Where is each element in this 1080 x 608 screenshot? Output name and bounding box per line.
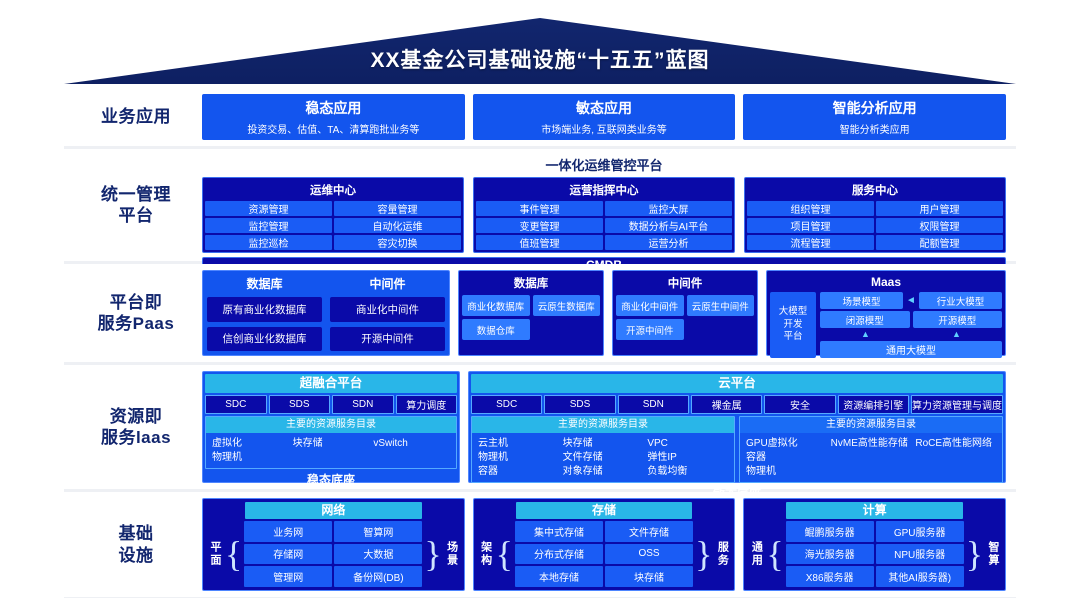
- maas-group: Maas 大模型 开发 平台 场景模型 ◄: [766, 270, 1006, 356]
- service-item: 弹性IP: [647, 451, 728, 464]
- paas-chip-grid: 商业化中间件 云原生中间件 开源中间件: [616, 295, 754, 340]
- maas-platform-label-line1: 大模型: [779, 306, 808, 319]
- infra-cell[interactable]: 其他AI服务器): [876, 566, 964, 587]
- service-item: vSwitch: [373, 437, 450, 450]
- service-catalog-column: VPC 弹性IP 负载均衡: [647, 437, 728, 478]
- infra-cell[interactable]: 管理网: [244, 566, 332, 587]
- paas-traditional-group: 数据库 原有商业化数据库 信创商业化数据库 中间件 商业化中间件 开源中间件: [202, 270, 450, 356]
- service-catalog-columns: 云主机 物理机 容器 块存储 文件存储 对象存储: [472, 433, 734, 482]
- capability-chip[interactable]: 资源编排引擎: [838, 395, 909, 414]
- cloud-platform: 云平台 SDC SDS SDN 裸金属 安全 资源编排引擎 算力资源管理与调度 …: [468, 371, 1006, 483]
- layer-label-paas: 平台即 服务Paas: [70, 270, 202, 356]
- left-brace-icon: {: [496, 521, 513, 587]
- layer-label-iaas-line2: 服务laas: [101, 427, 171, 448]
- paas-cloudnative-group: 数据库 商业化数据库 云原生数据库 数据仓库 中间件 商业化中间件 云原生中间件…: [458, 270, 758, 356]
- center-cell[interactable]: 流程管理: [747, 235, 874, 250]
- management-platform: 一体化运维管控平台 运维中心 资源管理 容量管理 监控管理 自动化运维 监控巡检…: [202, 155, 1006, 255]
- hyperconverged-platform: 超融合平台 SDC SDS SDN 算力调度 主要的资源服务目录 虚拟化: [202, 371, 460, 483]
- infra-cell[interactable]: 分布式存储: [515, 544, 603, 565]
- business-card[interactable]: 智能分析应用 智能分析类应用: [743, 94, 1006, 140]
- layer-label-infrastructure: 基础 设施: [70, 498, 202, 591]
- capability-chip[interactable]: SDC: [471, 395, 542, 414]
- paas-chip[interactable]: 开源中间件: [616, 319, 684, 340]
- layer-label-business: 业务应用: [70, 94, 202, 140]
- center-title: 运营指挥中心: [476, 180, 732, 201]
- infra-cell[interactable]: X86服务器: [786, 566, 874, 587]
- infra-cell[interactable]: 备份网(DB): [334, 566, 422, 587]
- up-arrow-icon: ▲: [820, 330, 911, 339]
- infra-cell[interactable]: 海光服务器: [786, 544, 874, 565]
- infra-cell[interactable]: 智算网: [334, 521, 422, 542]
- management-body: 一体化运维管控平台 运维中心 资源管理 容量管理 监控管理 自动化运维 监控巡检…: [202, 155, 1006, 255]
- paas-chip[interactable]: 商业化中间件: [616, 295, 684, 316]
- capability-chip[interactable]: 算力调度: [396, 395, 458, 414]
- paas-item[interactable]: 开源中间件: [330, 327, 445, 352]
- center-cell[interactable]: 项目管理: [747, 218, 874, 233]
- capability-chip[interactable]: SDS: [544, 395, 615, 414]
- business-card-subtitle: 智能分析类应用: [840, 121, 910, 136]
- infra-cell[interactable]: 存储网: [244, 544, 332, 565]
- service-item: 物理机: [746, 465, 827, 478]
- layer-label-management: 统一管理 平台: [70, 155, 202, 255]
- service-catalog-column: vSwitch: [373, 437, 450, 464]
- center-grid: 资源管理 容量管理 监控管理 自动化运维 监控巡检 容灾切换: [205, 201, 461, 250]
- paas-chip[interactable]: 云原生中间件: [687, 295, 755, 316]
- service-catalog-pane: 主要的资源服务目录 虚拟化 物理机 块存储 vSwitc: [205, 416, 457, 469]
- center-operation-command[interactable]: 运营指挥中心 事件管理 监控大屏 变更管理 数据分析与AI平台 值班管理 运营分…: [473, 177, 735, 253]
- layer-label-infra-line2: 设施: [119, 545, 154, 566]
- service-catalog-header: 主要的资源服务目录: [472, 417, 734, 433]
- maas-chip[interactable]: 场景模型: [820, 292, 903, 309]
- maas-platform-label[interactable]: 大模型 开发 平台: [770, 292, 816, 358]
- management-centers: 运维中心 资源管理 容量管理 监控管理 自动化运维 监控巡检 容灾切换: [202, 177, 1006, 253]
- infra-grid: 业务网 智算网 存储网 大数据 管理网 备份网(DB): [244, 521, 422, 587]
- layer-unified-management: 统一管理 平台 一体化运维管控平台 运维中心 资源管理 容量管理 监控管理: [64, 149, 1016, 261]
- service-catalog-column: 块存储: [293, 437, 370, 464]
- service-catalog-column: GPU虚拟化 容器 物理机: [746, 437, 827, 478]
- center-cell[interactable]: 配额管理: [876, 235, 1003, 250]
- infra-card-compute: 计算 通用 { 鲲鹏服务器 GPU服务器 海光服务器 NPU服务器 X86服务器…: [743, 498, 1006, 591]
- maas-model-stack: 场景模型 ◄ 行业大模型 闭源模型 开源模型 ▲ ▲: [820, 292, 1002, 358]
- service-item: 对象存储: [563, 465, 644, 478]
- iaas-body: 超融合平台 SDC SDS SDN 算力调度 主要的资源服务目录 虚拟化: [202, 371, 1006, 483]
- platform-header: 云平台: [471, 374, 1003, 393]
- service-item: 块存储: [293, 437, 370, 450]
- infra-left-label: 架构: [478, 521, 494, 587]
- business-card-subtitle: 市场端业务, 互联网类业务等: [541, 121, 667, 136]
- service-catalog-column: 块存储 文件存储 对象存储: [563, 437, 644, 478]
- service-item: NvME高性能存储: [831, 437, 912, 450]
- center-cell[interactable]: 自动化运维: [334, 218, 461, 233]
- center-cell[interactable]: 监控大屏: [605, 201, 732, 216]
- infra-left-label: 通用: [748, 521, 764, 587]
- business-card[interactable]: 敏态应用 市场端业务, 互联网类业务等: [473, 94, 736, 140]
- infra-grid: 鲲鹏服务器 GPU服务器 海光服务器 NPU服务器 X86服务器 其他AI服务器…: [786, 521, 964, 587]
- paas-item[interactable]: 原有商业化数据库: [207, 297, 322, 322]
- center-title: 服务中心: [747, 180, 1003, 201]
- left-brace-icon: {: [225, 521, 242, 587]
- right-brace-icon: }: [966, 521, 983, 587]
- blueprint-diagram: XX基金公司基础设施“十五五”蓝图 业务应用 稳态应用 投资交易、估值、TA、清…: [0, 0, 1080, 608]
- maas-chip[interactable]: 闭源模型: [820, 311, 910, 328]
- infra-card-storage: 存储 架构 { 集中式存储 文件存储 分布式存储 OSS 本地存储 块存储 }: [473, 498, 736, 591]
- infra-cell[interactable]: 本地存储: [515, 566, 603, 587]
- infra-cell[interactable]: 块存储: [605, 566, 693, 587]
- paas-item[interactable]: 商业化中间件: [330, 297, 445, 322]
- layer-paas: 平台即 服务Paas 数据库 原有商业化数据库 信创商业化数据库 中间件 商业化…: [64, 264, 1016, 362]
- infra-card-header: 存储: [516, 502, 693, 519]
- infra-card-body: 平面 { 业务网 智算网 存储网 大数据 管理网 备份网(DB) } 场景: [207, 521, 460, 587]
- paas-chip[interactable]: 云原生数据库: [533, 295, 601, 316]
- infra-cell[interactable]: GPU服务器: [876, 521, 964, 542]
- infra-cell[interactable]: 文件存储: [605, 521, 693, 542]
- capability-row: SDC SDS SDN 裸金属 安全 资源编排引擎 算力资源管理与调度: [471, 395, 1003, 414]
- center-ops[interactable]: 运维中心 资源管理 容量管理 监控管理 自动化运维 监控巡检 容灾切换: [202, 177, 464, 253]
- infra-cell[interactable]: NPU服务器: [876, 544, 964, 565]
- layer-stack: 业务应用 稳态应用 投资交易、估值、TA、清算跑批业务等 敏态应用 市场端业务,…: [64, 88, 1016, 598]
- service-catalog-column: 虚拟化 物理机: [212, 437, 289, 464]
- service-item: 云主机: [478, 437, 559, 450]
- up-arrow-icon: ▲: [911, 330, 1002, 339]
- capability-chip[interactable]: 安全: [764, 395, 835, 414]
- center-cell[interactable]: 监控巡检: [205, 235, 332, 250]
- service-item: 容器: [746, 451, 827, 464]
- infra-cell[interactable]: 业务网: [244, 521, 332, 542]
- service-catalog-header: 主要的资源服务目录: [206, 417, 456, 433]
- infra-card-header: 计算: [786, 502, 963, 519]
- maas-general-model[interactable]: 通用大模型: [820, 341, 1002, 358]
- center-cell[interactable]: 权限管理: [876, 218, 1003, 233]
- capability-chip[interactable]: SDN: [332, 395, 394, 414]
- center-cell[interactable]: 运营分析: [605, 235, 732, 250]
- infra-left-label: 平面: [207, 521, 223, 587]
- paas-column-database: 数据库 原有商业化数据库 信创商业化数据库: [207, 275, 322, 351]
- service-item: VPC: [647, 437, 728, 450]
- infra-cell[interactable]: OSS: [605, 544, 693, 565]
- center-service[interactable]: 服务中心 组织管理 用户管理 项目管理 权限管理 流程管理 配额管理: [744, 177, 1006, 253]
- center-cell[interactable]: 监控管理: [205, 218, 332, 233]
- management-platform-title: 一体化运维管控平台: [202, 155, 1006, 177]
- service-item: GPU虚拟化: [746, 437, 827, 450]
- infrastructure-body: 网络 平面 { 业务网 智算网 存储网 大数据 管理网 备份网(DB) }: [202, 498, 1006, 591]
- business-card-title: 智能分析应用: [833, 98, 917, 118]
- layer-business-application: 业务应用 稳态应用 投资交易、估值、TA、清算跑批业务等 敏态应用 市场端业务,…: [64, 88, 1016, 146]
- paas-group-header: 数据库: [462, 274, 600, 295]
- infra-card-header: 网络: [245, 502, 422, 519]
- maas-body: 大模型 开发 平台 场景模型 ◄ 行业大模型: [770, 292, 1002, 358]
- service-item: RoCE高性能网络: [915, 437, 996, 450]
- paas-column-header: 数据库: [207, 275, 322, 292]
- center-cell[interactable]: 容灾切换: [334, 235, 461, 250]
- capability-chip[interactable]: SDC: [205, 395, 267, 414]
- service-catalog-column: NvME高性能存储: [831, 437, 912, 478]
- infra-cell[interactable]: 大数据: [334, 544, 422, 565]
- infra-right-label: 智算: [985, 521, 1001, 587]
- base-label: 稳态底座: [205, 471, 457, 488]
- maas-header: Maas: [770, 274, 1002, 292]
- paas-column-middleware: 中间件 商业化中间件 开源中间件: [330, 275, 445, 351]
- service-item: 块存储: [563, 437, 644, 450]
- paas-body: 数据库 原有商业化数据库 信创商业化数据库 中间件 商业化中间件 开源中间件 数…: [202, 270, 1006, 356]
- service-catalog-pane-ai: 主要的资源服务目录 GPU虚拟化 容器 物理机 NvME高性能存储: [739, 416, 1003, 483]
- business-card[interactable]: 稳态应用 投资交易、估值、TA、清算跑批业务等: [202, 94, 465, 140]
- infra-card-body: 通用 { 鲲鹏服务器 GPU服务器 海光服务器 NPU服务器 X86服务器 其他…: [748, 521, 1001, 587]
- infra-grid: 集中式存储 文件存储 分布式存储 OSS 本地存储 块存储: [515, 521, 693, 587]
- infra-right-label: 场景: [444, 521, 460, 587]
- center-cell[interactable]: 用户管理: [876, 201, 1003, 216]
- maas-chip[interactable]: 开源模型: [913, 311, 1003, 328]
- service-catalog-columns: GPU虚拟化 容器 物理机 NvME高性能存储 RoCE高性能网络: [740, 433, 1002, 482]
- service-item: 容器: [478, 465, 559, 478]
- service-item: 物理机: [478, 451, 559, 464]
- center-grid: 事件管理 监控大屏 变更管理 数据分析与AI平台 值班管理 运营分析: [476, 201, 732, 250]
- layer-infrastructure: 基础 设施 网络 平面 { 业务网 智算网 存储网 大数据: [64, 492, 1016, 597]
- center-cell[interactable]: 组织管理: [747, 201, 874, 216]
- service-item: 物理机: [212, 451, 289, 464]
- service-catalog-pane-general: 主要的资源服务目录 云主机 物理机 容器 块存储 文件存储: [471, 416, 735, 483]
- service-item: 文件存储: [563, 451, 644, 464]
- layer-label-paas-line1: 平台即: [98, 292, 175, 313]
- business-cards: 稳态应用 投资交易、估值、TA、清算跑批业务等 敏态应用 市场端业务, 互联网类…: [202, 94, 1006, 140]
- business-card-subtitle: 投资交易、估值、TA、清算跑批业务等: [247, 121, 419, 136]
- infra-right-label: 服务: [714, 521, 730, 587]
- capability-row: SDC SDS SDN 算力调度: [205, 395, 457, 414]
- layer-label-iaas: 资源即 服务laas: [70, 371, 202, 483]
- center-title: 运维中心: [205, 180, 461, 201]
- layer-iaas: 资源即 服务laas 超融合平台 SDC SDS SDN 算力调度 主要的资源: [64, 365, 1016, 489]
- paas-chip[interactable]: 商业化数据库: [462, 295, 530, 316]
- center-cell[interactable]: 容量管理: [334, 201, 461, 216]
- center-cell[interactable]: 资源管理: [205, 201, 332, 216]
- service-catalog-columns: 虚拟化 物理机 块存储 vSwitch: [206, 433, 456, 468]
- paas-group-header: 中间件: [616, 274, 754, 295]
- paas-group-middleware: 中间件 商业化中间件 云原生中间件 开源中间件: [612, 270, 758, 356]
- layer-label-iaas-line1: 资源即: [101, 406, 171, 427]
- paas-chip-grid: 商业化数据库 云原生数据库 数据仓库: [462, 295, 600, 340]
- infra-card-body: 架构 { 集中式存储 文件存储 分布式存储 OSS 本地存储 块存储 } 服务: [478, 521, 731, 587]
- page-title: XX基金公司基础设施“十五五”蓝图: [64, 42, 1016, 76]
- center-cell[interactable]: 变更管理: [476, 218, 603, 233]
- service-catalog-box: 主要的资源服务目录 虚拟化 物理机 块存储 vSwitc: [205, 416, 457, 469]
- layer-label-paas-line2: 服务Paas: [98, 313, 175, 334]
- service-catalog-box: 主要的资源服务目录 云主机 物理机 容器 块存储 文件存储: [471, 416, 1003, 483]
- right-brace-icon: }: [424, 521, 441, 587]
- left-brace-icon: {: [766, 521, 783, 587]
- infra-card-network: 网络 平面 { 业务网 智算网 存储网 大数据 管理网 备份网(DB) }: [202, 498, 465, 591]
- paas-group-database: 数据库 商业化数据库 云原生数据库 数据仓库: [458, 270, 604, 356]
- platform-header: 超融合平台: [205, 374, 457, 393]
- maas-row-scene: 场景模型 ◄ 行业大模型: [820, 292, 1002, 309]
- layer-label-management-line2: 平台: [101, 205, 171, 226]
- right-brace-icon: }: [695, 521, 712, 587]
- capability-chip[interactable]: SDN: [618, 395, 689, 414]
- service-catalog-column: 云主机 物理机 容器: [478, 437, 559, 478]
- business-card-title: 稳态应用: [305, 98, 361, 118]
- capability-chip[interactable]: 裸金属: [691, 395, 762, 414]
- paas-item[interactable]: 信创商业化数据库: [207, 327, 322, 352]
- service-item: 负载均衡: [647, 465, 728, 478]
- center-cell[interactable]: 事件管理: [476, 201, 603, 216]
- maas-arrow-row: ▲ ▲: [820, 330, 1002, 339]
- service-item: 虚拟化: [212, 437, 289, 450]
- infra-cell[interactable]: 鲲鹏服务器: [786, 521, 874, 542]
- capability-chip[interactable]: 算力资源管理与调度: [911, 395, 1003, 414]
- business-card-title: 敏态应用: [576, 98, 632, 118]
- center-grid: 组织管理 用户管理 项目管理 权限管理 流程管理 配额管理: [747, 201, 1003, 250]
- paas-column-header: 中间件: [330, 275, 445, 292]
- service-catalog-header: 主要的资源服务目录: [740, 417, 1002, 433]
- layer-label-management-line1: 统一管理: [101, 184, 171, 205]
- maas-row-source: 闭源模型 开源模型: [820, 311, 1002, 328]
- maas-chip[interactable]: 行业大模型: [919, 292, 1002, 309]
- capability-chip[interactable]: SDS: [269, 395, 331, 414]
- maas-platform-label-line3: 平台: [779, 331, 808, 344]
- center-cell[interactable]: 值班管理: [476, 235, 603, 250]
- paas-chip[interactable]: 数据仓库: [462, 319, 530, 340]
- maas-platform-label-line2: 开发: [779, 319, 808, 332]
- center-cell[interactable]: 数据分析与AI平台: [605, 218, 732, 233]
- left-arrow-icon: ◄: [906, 296, 916, 306]
- service-catalog-column: RoCE高性能网络: [915, 437, 996, 478]
- infra-cell[interactable]: 集中式存储: [515, 521, 603, 542]
- layer-label-infra-line1: 基础: [119, 523, 154, 544]
